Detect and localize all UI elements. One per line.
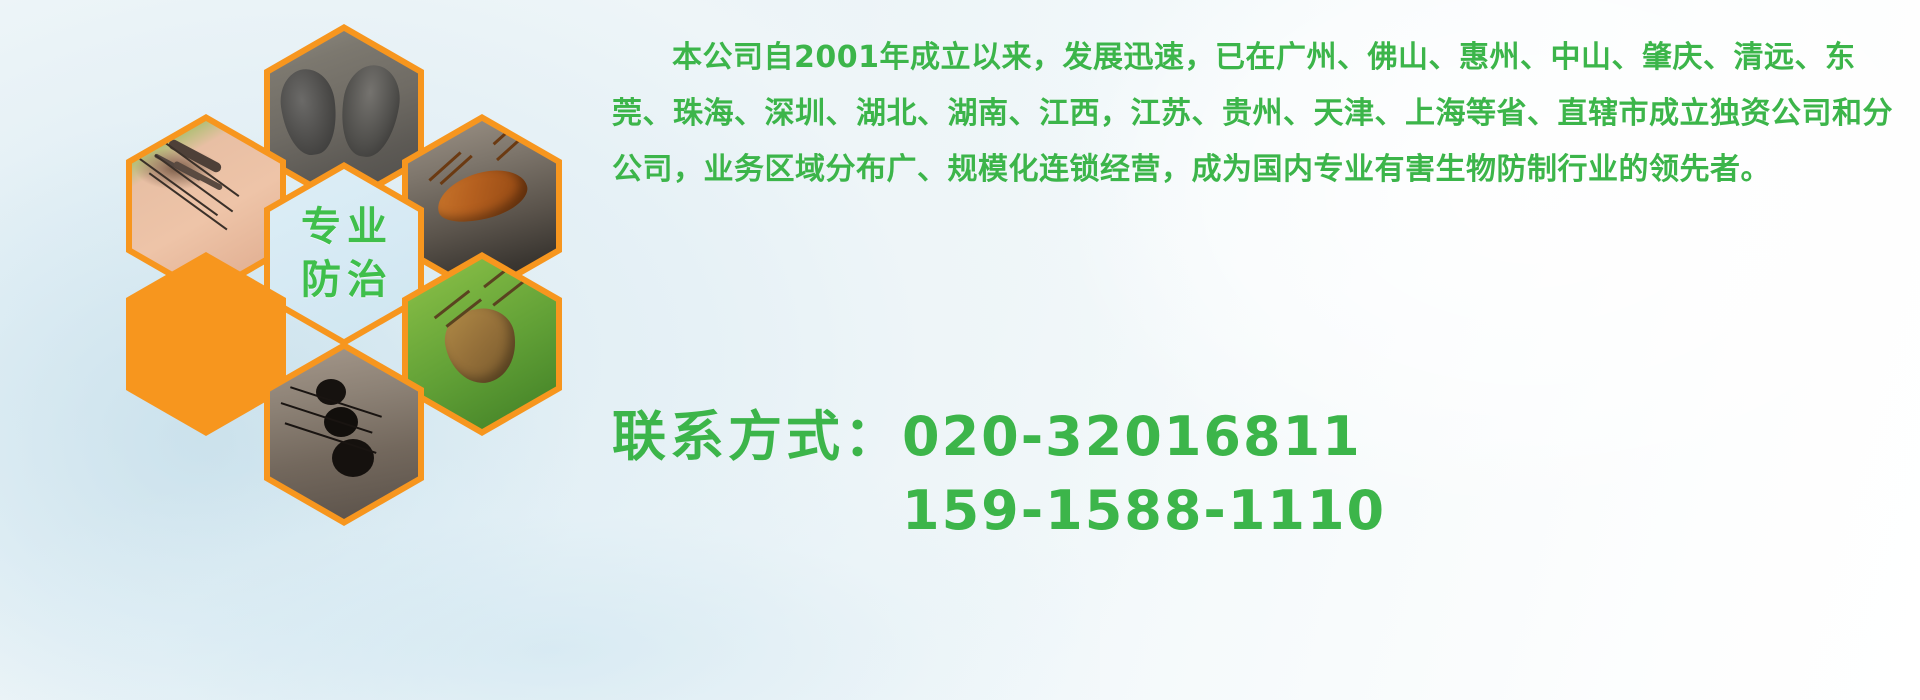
intro-copy-block: 本公司自2001年成立以来，发展迅速，已在广州、佛山、惠州、中山、肇庆、清远、东… — [612, 30, 1912, 198]
contact-phone-primary[interactable]: 020-32016811 — [902, 405, 1362, 468]
contact-block: 联系方式：020-32016811 159-1588-1110 — [612, 400, 1912, 548]
slogan-line-2: 防治 — [295, 254, 393, 307]
hex-slogan-frame: 专业 防治 — [270, 169, 418, 339]
hex-slogan: 专业 防治 — [264, 162, 424, 346]
contact-primary-line: 联系方式：020-32016811 — [612, 400, 1912, 474]
contact-phone-secondary[interactable]: 159-1588-1110 — [902, 479, 1386, 542]
contact-secondary-line: 159-1588-1110 — [612, 474, 1912, 548]
hex-photo-stink-bug[interactable] — [402, 252, 562, 436]
hex-photo-ant[interactable] — [264, 342, 424, 526]
flies-icon — [132, 259, 280, 429]
slogan-line-1: 专业 — [295, 201, 393, 254]
company-banner: 专业 防治 本公司自2001年成立以来，发展迅速，已在广州、佛山、惠州、中山、肇… — [0, 0, 1920, 700]
ant-icon — [270, 349, 418, 519]
stink-bug-icon — [408, 259, 556, 429]
intro-paragraph: 本公司自2001年成立以来，发展迅速，已在广州、佛山、惠州、中山、肇庆、清远、东… — [612, 30, 1907, 198]
contact-label: 联系方式： — [612, 405, 902, 468]
hex-photo-flies[interactable] — [126, 252, 286, 436]
hexagon-photo-cluster: 专业 防治 — [88, 10, 588, 570]
hex-photo-ant-frame — [270, 349, 418, 519]
hex-photo-stink-bug-frame — [408, 259, 556, 429]
hex-photo-flies-frame — [132, 259, 280, 429]
